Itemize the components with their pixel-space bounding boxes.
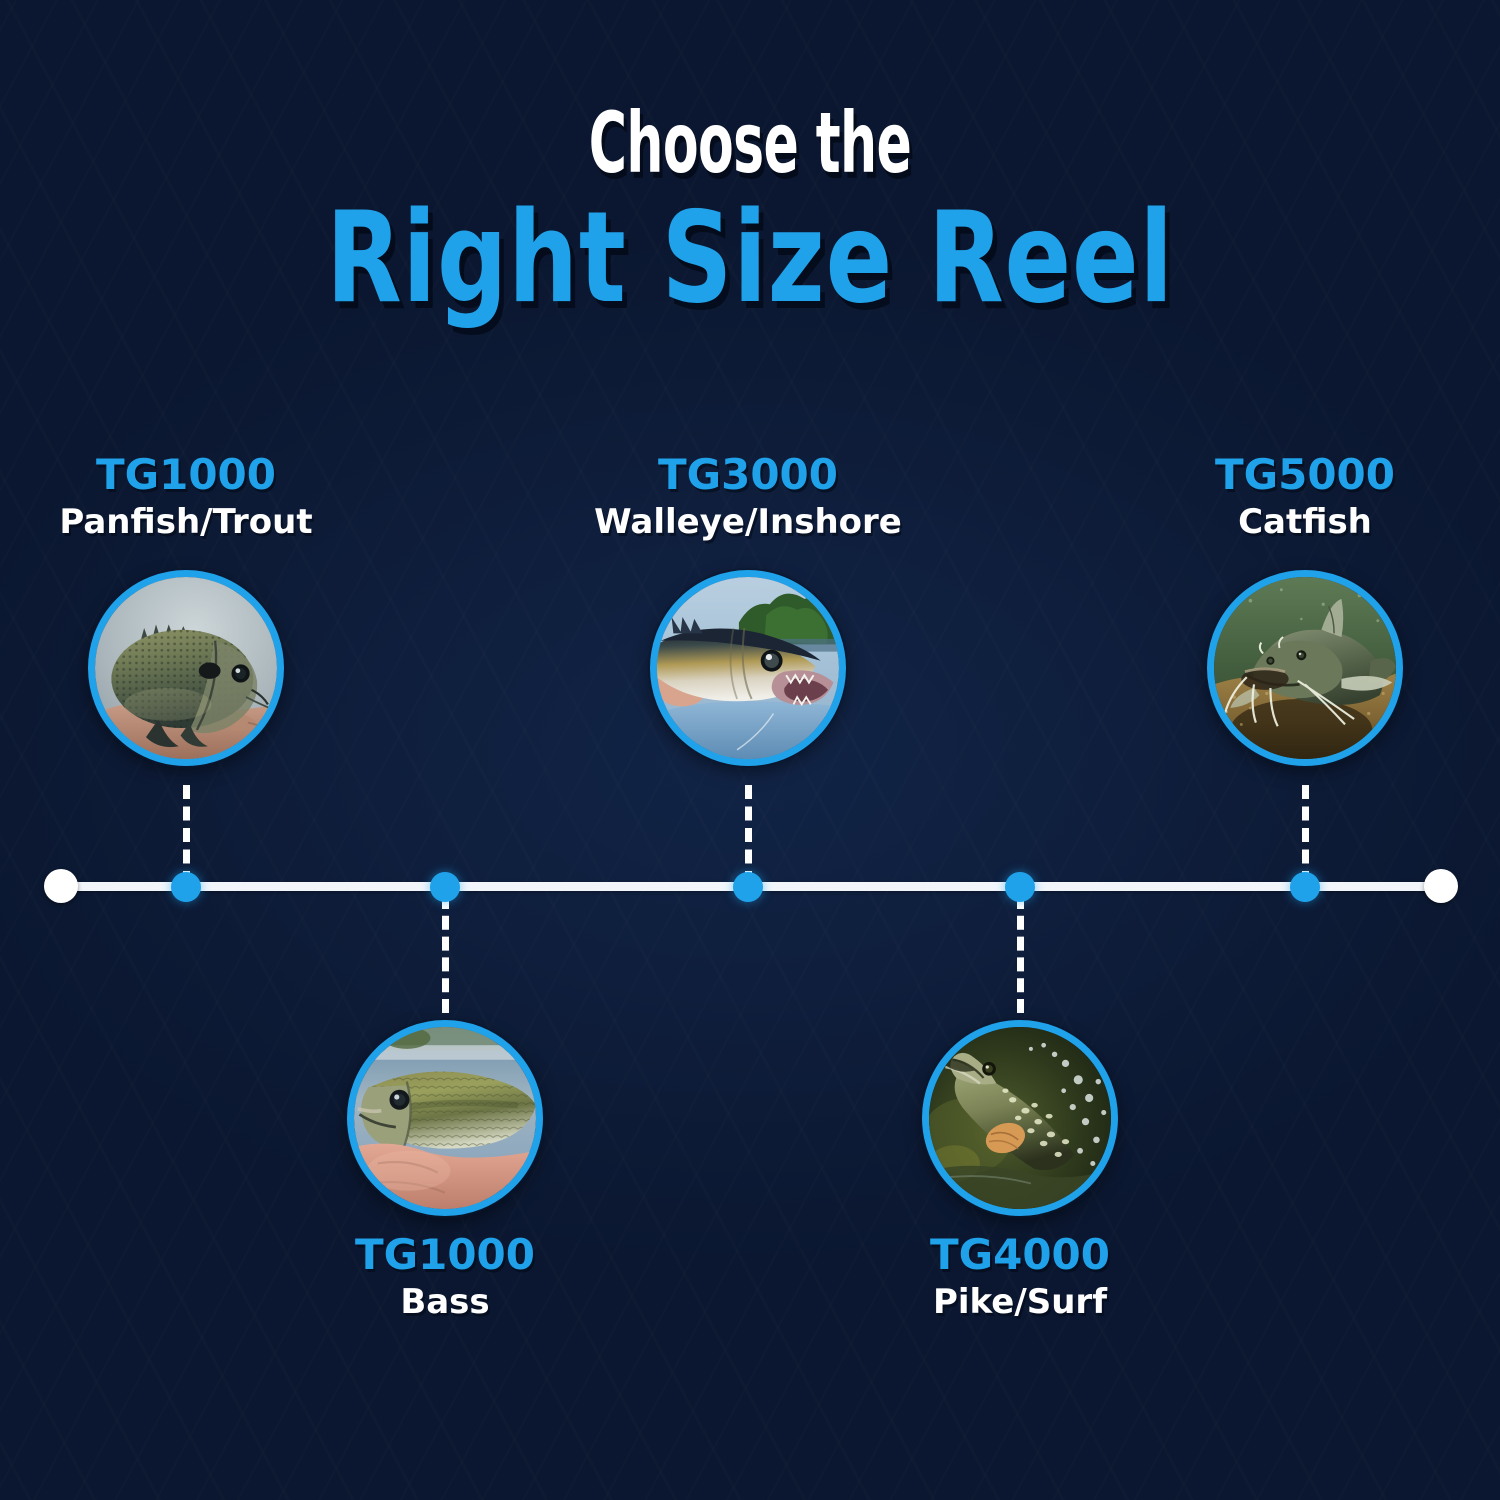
connector-walleye <box>745 785 752 885</box>
catfish-image <box>1214 577 1396 759</box>
connector-catfish <box>1302 785 1309 885</box>
node-panfish-model: TG1000 <box>16 452 356 498</box>
connector-panfish <box>183 785 190 885</box>
northern-pike-image <box>929 1027 1111 1209</box>
node-bass-species: Bass <box>275 1282 615 1322</box>
node-catfish-photo[interactable] <box>1207 570 1403 766</box>
node-pike-species: Pike/Surf <box>850 1282 1190 1322</box>
node-dot-bass[interactable] <box>430 872 460 902</box>
node-bass-photo[interactable] <box>347 1020 543 1216</box>
node-dot-walleye[interactable] <box>733 872 763 902</box>
node-walleye-model: TG3000 <box>578 452 918 498</box>
node-catfish-species: Catfish <box>1135 502 1475 542</box>
node-pike[interactable]: TG4000 Pike/Surf <box>922 1020 1118 1216</box>
node-panfish-photo[interactable] <box>88 570 284 766</box>
node-walleye[interactable]: TG3000 Walleye/Inshore <box>650 570 846 766</box>
node-dot-pike[interactable] <box>1005 872 1035 902</box>
node-walleye-species: Walleye/Inshore <box>578 502 918 542</box>
node-pike-model: TG4000 <box>850 1232 1190 1278</box>
node-walleye-photo[interactable] <box>650 570 846 766</box>
connector-pike <box>1017 895 1024 1013</box>
node-panfish[interactable]: TG1000 Panfish/Trout <box>88 570 284 766</box>
title-line-2: Right Size Reel <box>165 192 1335 324</box>
node-catfish-model: TG5000 <box>1135 452 1475 498</box>
node-pike-photo[interactable] <box>922 1020 1118 1216</box>
bluegill-panfish-image <box>95 577 277 759</box>
timeline-endpoint-right <box>1424 869 1458 903</box>
node-catfish[interactable]: TG5000 Catfish <box>1207 570 1403 766</box>
node-pike-label: TG4000 Pike/Surf <box>850 1232 1190 1322</box>
infographic-poster: Choose the Right Size Reel TG1000 Panfis… <box>0 0 1500 1500</box>
node-dot-panfish[interactable] <box>171 872 201 902</box>
timeline-endpoint-left <box>44 869 78 903</box>
node-panfish-label: TG1000 Panfish/Trout <box>16 452 356 542</box>
poster-title: Choose the Right Size Reel <box>0 100 1500 324</box>
node-walleye-label: TG3000 Walleye/Inshore <box>578 452 918 542</box>
node-bass-model: TG1000 <box>275 1232 615 1278</box>
largemouth-bass-image <box>354 1027 536 1209</box>
connector-bass <box>442 895 449 1013</box>
node-bass-label: TG1000 Bass <box>275 1232 615 1322</box>
node-bass[interactable]: TG1000 Bass <box>347 1020 543 1216</box>
walleye-image <box>657 577 839 759</box>
node-catfish-label: TG5000 Catfish <box>1135 452 1475 542</box>
node-dot-catfish[interactable] <box>1290 872 1320 902</box>
title-line-1: Choose the <box>285 100 1215 186</box>
node-panfish-species: Panfish/Trout <box>16 502 356 542</box>
